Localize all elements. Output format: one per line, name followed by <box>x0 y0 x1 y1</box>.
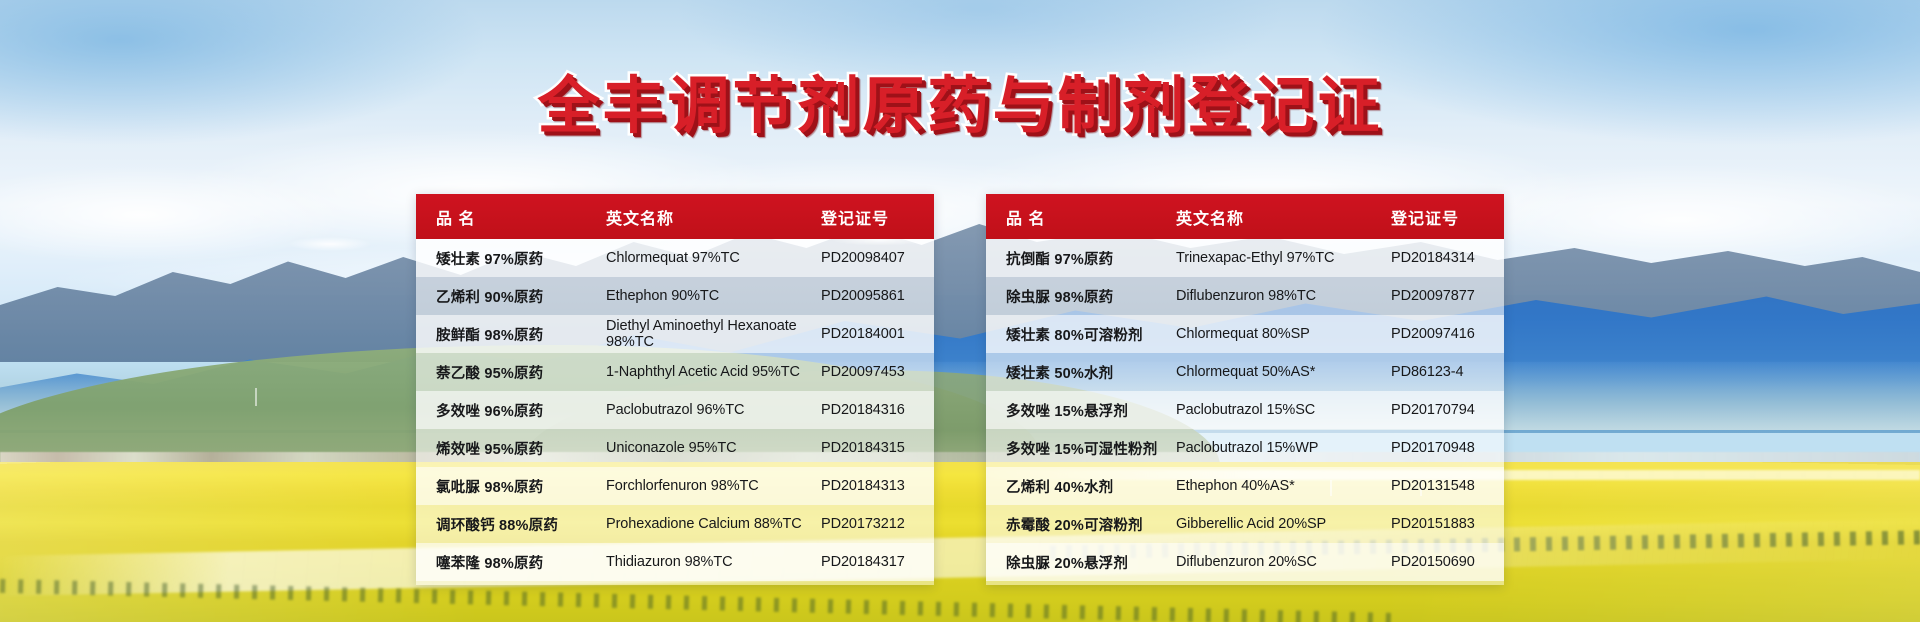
table-row: 氯吡脲 98%原药Forchlorfenuron 98%TCPD20184313 <box>416 467 934 505</box>
cell-english-name: Trinexapac-Ethyl 97%TC <box>1176 250 1391 266</box>
cell-product-name: 除虫脲 20%悬浮剂 <box>986 552 1176 573</box>
table-row: 矮壮素 97%原药Chlormequat 97%TCPD20098407 <box>416 239 934 277</box>
registration-tables: 品 名 英文名称 登记证号 矮壮素 97%原药Chlormequat 97%TC… <box>0 194 1920 585</box>
cell-product-name: 多效唑 96%原药 <box>416 400 606 421</box>
table-row: 多效唑 15%可湿性粉剂Paclobutrazol 15%WPPD2017094… <box>986 429 1504 467</box>
cell-english-name: Chlormequat 97%TC <box>606 250 821 266</box>
cell-registration-no: PD20184313 <box>821 478 934 494</box>
cell-english-name: Diflubenzuron 98%TC <box>1176 288 1391 304</box>
table-row: 噻苯隆 98%原药Thidiazuron 98%TCPD20184317 <box>416 543 934 581</box>
column-header-english-name: 英文名称 <box>606 205 821 229</box>
column-header-english-name: 英文名称 <box>1176 205 1391 229</box>
cell-registration-no: PD20097416 <box>1391 326 1504 342</box>
cell-registration-no: PD20184317 <box>821 554 934 570</box>
cell-registration-no: PD20097877 <box>1391 288 1504 304</box>
table-body: 矮壮素 97%原药Chlormequat 97%TCPD20098407 乙烯利… <box>416 239 934 585</box>
table-row: 乙烯利 40%水剂Ethephon 40%AS*PD20131548 <box>986 467 1504 505</box>
table-row: 多效唑 96%原药Paclobutrazol 96%TCPD20184316 <box>416 391 934 429</box>
column-header-product-name: 品 名 <box>986 205 1176 229</box>
table-bottom-fade <box>986 581 1504 585</box>
page-title: 全丰调节剂原药与制剂登记证 <box>537 55 1382 145</box>
cell-registration-no: PD86123-4 <box>1391 364 1504 380</box>
table-row: 矮壮素 50%水剂Chlormequat 50%AS*PD86123-4 <box>986 353 1504 391</box>
cell-product-name: 赤霉酸 20%可溶粉剂 <box>986 514 1176 535</box>
cell-english-name: Paclobutrazol 96%TC <box>606 402 821 418</box>
table-row: 乙烯利 90%原药Ethephon 90%TCPD20095861 <box>416 277 934 315</box>
table-header-row: 品 名 英文名称 登记证号 <box>986 194 1504 239</box>
table-row: 烯效唑 95%原药Uniconazole 95%TCPD20184315 <box>416 429 934 467</box>
cell-registration-no: PD20184314 <box>1391 250 1504 266</box>
cell-english-name: Gibberellic Acid 20%SP <box>1176 516 1391 532</box>
cell-english-name: 1-Naphthyl Acetic Acid 95%TC <box>606 364 821 380</box>
cell-english-name: Diflubenzuron 20%SC <box>1176 554 1391 570</box>
cell-product-name: 乙烯利 90%原药 <box>416 286 606 307</box>
cell-registration-no: PD20170948 <box>1391 440 1504 456</box>
cell-registration-no: PD20131548 <box>1391 478 1504 494</box>
column-header-registration-no: 登记证号 <box>1391 205 1504 229</box>
table-row: 赤霉酸 20%可溶粉剂Gibberellic Acid 20%SPPD20151… <box>986 505 1504 543</box>
column-header-product-name: 品 名 <box>416 205 606 229</box>
table-row: 抗倒酯 97%原药Trinexapac-Ethyl 97%TCPD2018431… <box>986 239 1504 277</box>
cell-product-name: 噻苯隆 98%原药 <box>416 552 606 573</box>
table-raw-materials: 品 名 英文名称 登记证号 矮壮素 97%原药Chlormequat 97%TC… <box>416 194 934 585</box>
cell-english-name: Diethyl Aminoethyl Hexanoate 98%TC <box>606 318 821 350</box>
cell-registration-no: PD20098407 <box>821 250 934 266</box>
table-row: 除虫脲 20%悬浮剂Diflubenzuron 20%SCPD20150690 <box>986 543 1504 581</box>
table-body: 抗倒酯 97%原药Trinexapac-Ethyl 97%TCPD2018431… <box>986 239 1504 585</box>
cell-product-name: 矮壮素 50%水剂 <box>986 362 1176 383</box>
table-header-row: 品 名 英文名称 登记证号 <box>416 194 934 239</box>
cell-product-name: 多效唑 15%可湿性粉剂 <box>986 438 1176 459</box>
cell-product-name: 多效唑 15%悬浮剂 <box>986 400 1176 421</box>
table-row: 矮壮素 80%可溶粉剂Chlormequat 80%SPPD20097416 <box>986 315 1504 353</box>
cell-english-name: Chlormequat 50%AS* <box>1176 364 1391 380</box>
cell-product-name: 调环酸钙 88%原药 <box>416 514 606 535</box>
cell-product-name: 抗倒酯 97%原药 <box>986 248 1176 269</box>
cell-english-name: Paclobutrazol 15%WP <box>1176 440 1391 456</box>
cell-product-name: 矮壮素 80%可溶粉剂 <box>986 324 1176 345</box>
table-row: 调环酸钙 88%原药Prohexadione Calcium 88%TCPD20… <box>416 505 934 543</box>
cell-product-name: 除虫脲 98%原药 <box>986 286 1176 307</box>
cell-registration-no: PD20097453 <box>821 364 934 380</box>
cell-english-name: Uniconazole 95%TC <box>606 440 821 456</box>
cell-registration-no: PD20095861 <box>821 288 934 304</box>
table-row: 多效唑 15%悬浮剂Paclobutrazol 15%SCPD20170794 <box>986 391 1504 429</box>
cell-registration-no: PD20170794 <box>1391 402 1504 418</box>
cell-english-name: Forchlorfenuron 98%TC <box>606 478 821 494</box>
cell-english-name: Chlormequat 80%SP <box>1176 326 1391 342</box>
table-row: 萘乙酸 95%原药1-Naphthyl Acetic Acid 95%TCPD2… <box>416 353 934 391</box>
cell-registration-no: PD20173212 <box>821 516 934 532</box>
cell-product-name: 烯效唑 95%原药 <box>416 438 606 459</box>
cell-product-name: 胺鲜酯 98%原药 <box>416 324 606 345</box>
cell-product-name: 氯吡脲 98%原药 <box>416 476 606 497</box>
cell-english-name: Thidiazuron 98%TC <box>606 554 821 570</box>
cell-english-name: Ethephon 90%TC <box>606 288 821 304</box>
cell-registration-no: PD20151883 <box>1391 516 1504 532</box>
cell-english-name: Ethephon 40%AS* <box>1176 478 1391 494</box>
page-title-wrap: 全丰调节剂原药与制剂登记证 <box>0 55 1920 145</box>
cell-registration-no: PD20150690 <box>1391 554 1504 570</box>
table-row: 胺鲜酯 98%原药Diethyl Aminoethyl Hexanoate 98… <box>416 315 934 353</box>
column-header-registration-no: 登记证号 <box>821 205 934 229</box>
cell-product-name: 矮壮素 97%原药 <box>416 248 606 269</box>
cell-product-name: 萘乙酸 95%原药 <box>416 362 606 383</box>
table-bottom-fade <box>416 581 934 585</box>
cell-english-name: Paclobutrazol 15%SC <box>1176 402 1391 418</box>
table-row: 除虫脲 98%原药Diflubenzuron 98%TCPD20097877 <box>986 277 1504 315</box>
table-formulations: 品 名 英文名称 登记证号 抗倒酯 97%原药Trinexapac-Ethyl … <box>986 194 1504 585</box>
cell-english-name: Prohexadione Calcium 88%TC <box>606 516 821 532</box>
cell-registration-no: PD20184316 <box>821 402 934 418</box>
cell-product-name: 乙烯利 40%水剂 <box>986 476 1176 497</box>
cell-registration-no: PD20184001 <box>821 326 934 342</box>
cell-registration-no: PD20184315 <box>821 440 934 456</box>
